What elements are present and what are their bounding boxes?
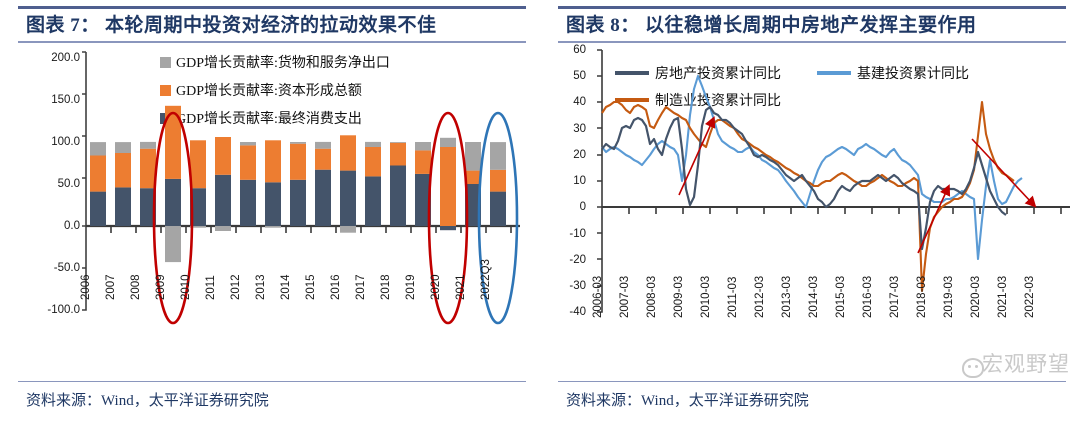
x-tick-2008-03: 2008-03 bbox=[646, 276, 658, 318]
x-tick-2019-03: 2019-03 bbox=[943, 276, 955, 318]
bar-2022q3 bbox=[490, 142, 506, 226]
bar-2018 bbox=[390, 142, 406, 226]
bar-2007 bbox=[115, 142, 131, 226]
x-tick-2015: 2015 bbox=[305, 274, 317, 300]
bar-2006 bbox=[90, 142, 106, 226]
bar-2012 bbox=[240, 142, 256, 226]
figure-7-source: 资料来源：Wind，太平洋证券研究院 bbox=[26, 389, 269, 410]
x-tick-2011-03: 2011-03 bbox=[727, 277, 739, 318]
x-tick-2020-03: 2020-03 bbox=[970, 276, 982, 318]
x-tick-2016: 2016 bbox=[330, 274, 342, 300]
figure-8-panel: 图表 8： 以往稳增长周期中房地产发挥主要作用 60 50 40 30 20 1… bbox=[540, 0, 1080, 422]
source-rule bbox=[18, 381, 526, 383]
x-tick-2021-03: 2021-03 bbox=[997, 276, 1009, 318]
x-tick-2020: 2020 bbox=[430, 274, 442, 300]
x-tick-2012-03: 2012-03 bbox=[754, 276, 766, 318]
series-line-manufacturing bbox=[602, 102, 1014, 291]
figure-7-svg bbox=[0, 0, 540, 422]
x-tick-2022q3: 2022Q3 bbox=[480, 259, 492, 300]
series-line-infrastructure bbox=[602, 76, 1022, 259]
figure-8-plot: 60 50 40 30 20 10 0 -10 -20 -30 -40 房地产投… bbox=[540, 0, 1080, 422]
y-axis-line bbox=[597, 50, 602, 312]
x-tick-2021: 2021 bbox=[455, 274, 467, 300]
bar-2016 bbox=[340, 135, 356, 232]
x-tick-2019: 2019 bbox=[405, 274, 417, 300]
x-tick-2012: 2012 bbox=[230, 274, 242, 300]
figure-8-svg bbox=[540, 0, 1080, 422]
figure-7-panel: 图表 7： 本轮周期中投资对经济的拉动效果不佳 200.0 150.0 100.… bbox=[0, 0, 540, 422]
watermark-face-icon bbox=[962, 358, 984, 378]
x-tick-2017: 2017 bbox=[355, 274, 367, 300]
bar-2015 bbox=[315, 142, 331, 226]
figure-pair: 图表 7： 本轮周期中投资对经济的拉动效果不佳 200.0 150.0 100.… bbox=[0, 0, 1080, 422]
x-tick-2008: 2008 bbox=[130, 274, 142, 300]
bar-2014 bbox=[290, 142, 306, 226]
figure-8-source: 资料来源：Wind，太平洋证券研究院 bbox=[566, 389, 809, 410]
x-tick-marks bbox=[629, 207, 1061, 214]
x-tick-2006: 2006 bbox=[80, 274, 92, 300]
x-tick-2013-03: 2013-03 bbox=[781, 276, 793, 318]
bar-2017 bbox=[365, 142, 381, 226]
bar-2011 bbox=[215, 137, 231, 231]
bar-2013 bbox=[265, 140, 281, 227]
x-tick-2010-03: 2010-03 bbox=[700, 276, 712, 318]
figure-7-plot: 200.0 150.0 100.0 50.0 0.0 -50.0 -100.0 … bbox=[0, 0, 540, 422]
x-tick-2017-03: 2017-03 bbox=[889, 276, 901, 318]
x-tick-2006-03: 2006-03 bbox=[592, 276, 604, 318]
x-tick-2010: 2010 bbox=[180, 274, 192, 300]
x-tick-2022-03: 2022-03 bbox=[1024, 276, 1036, 318]
x-tick-2009: 2009 bbox=[155, 274, 167, 300]
x-tick-2018-03: 2018-03 bbox=[916, 276, 928, 318]
x-tick-2013: 2013 bbox=[255, 274, 267, 300]
x-tick-2014: 2014 bbox=[280, 274, 292, 300]
x-tick-2018: 2018 bbox=[380, 274, 392, 300]
x-tick-2016-03: 2016-03 bbox=[862, 276, 874, 318]
x-tick-2011: 2011 bbox=[205, 275, 217, 300]
bar-2020 bbox=[440, 138, 456, 230]
x-tick-2009-03: 2009-03 bbox=[673, 276, 685, 318]
annotation-arrow-2020 bbox=[918, 190, 947, 253]
x-tick-2007-03: 2007-03 bbox=[619, 276, 631, 318]
x-tick-2007: 2007 bbox=[105, 274, 117, 300]
series-line-real-estate bbox=[602, 107, 1006, 249]
x-tick-2015-03: 2015-03 bbox=[835, 276, 847, 318]
annotation-arrow-decline bbox=[972, 139, 1032, 203]
bar-2009 bbox=[165, 106, 181, 262]
source-rule bbox=[558, 381, 1066, 383]
x-tick-2014-03: 2014-03 bbox=[808, 276, 820, 318]
y-axis-line bbox=[82, 52, 86, 310]
